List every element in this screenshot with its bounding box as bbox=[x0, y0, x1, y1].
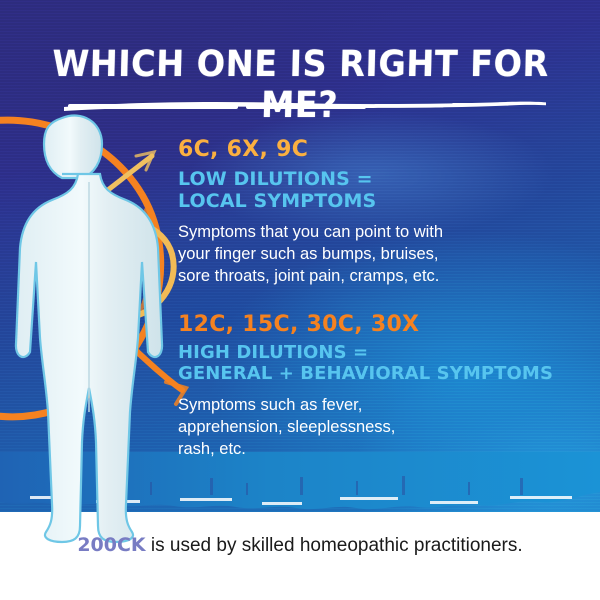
human-body-silhouette bbox=[0, 112, 186, 544]
footer-text: is used by skilled homeopathic practitio… bbox=[146, 535, 523, 556]
body-text-high: Symptoms such as fever, apprehension, sl… bbox=[178, 395, 578, 461]
footer-highlight: 200CK bbox=[77, 534, 145, 556]
dose-label-high: 12C, 15C, 30C, 30X bbox=[178, 313, 578, 336]
section-high-dilutions: 12C, 15C, 30C, 30X HIGH DILUTIONS = GENE… bbox=[178, 313, 578, 461]
infographic-poster: WHICH ONE IS RIGHT FOR ME? 6C, 6X, 9C LO… bbox=[0, 0, 600, 600]
dose-label-low: 6C, 6X, 9C bbox=[178, 138, 578, 161]
subtitle-high: HIGH DILUTIONS = GENERAL + BEHAVIORAL SY… bbox=[178, 343, 578, 385]
section-low-dilutions: 6C, 6X, 9C LOW DILUTIONS = LOCAL SYMPTOM… bbox=[178, 138, 578, 288]
footer-note: 200CK is used by skilled homeopathic pra… bbox=[0, 534, 600, 557]
white-brush-underline-icon bbox=[60, 96, 550, 118]
body-text-low: Symptoms that you can point to with your… bbox=[178, 222, 578, 288]
subtitle-low: LOW DILUTIONS = LOCAL SYMPTOMS bbox=[178, 168, 578, 212]
